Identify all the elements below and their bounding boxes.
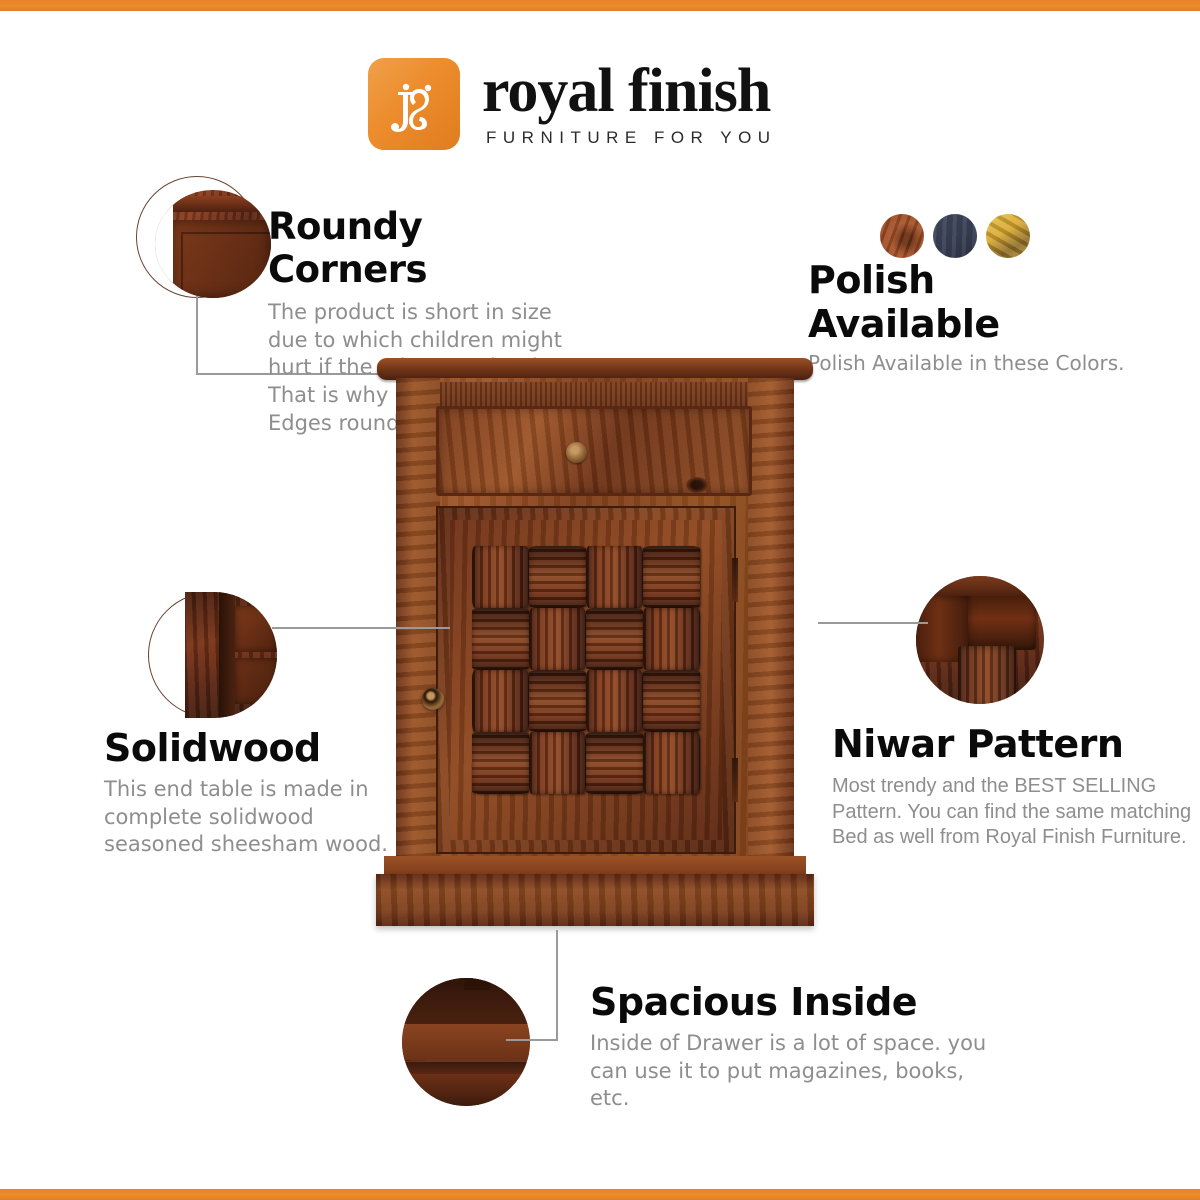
polish-callout: Polish Available Polish Available in the…: [808, 258, 1138, 376]
bottom-accent-bar: [0, 1189, 1200, 1200]
niwar-pattern-connector: [818, 622, 928, 624]
rf-monogram-icon: [368, 58, 460, 150]
spacious-inside-title: Spacious Inside: [590, 980, 990, 1024]
polish-swatch-group: [880, 214, 1030, 258]
spacious-inside-photo: [402, 978, 530, 1106]
niwar-pattern-photo: [916, 576, 1044, 704]
brand-logo: royal finish FURNITURE FOR YOU: [368, 58, 777, 150]
spacious-inside-body: Inside of Drawer is a lot of space. you …: [590, 1030, 990, 1113]
wood-knot: [686, 477, 708, 493]
drawer-rail: [440, 382, 748, 408]
niwar-weave-pattern: [472, 546, 700, 794]
brand-text-block: royal finish FURNITURE FOR YOU: [482, 60, 777, 148]
polish-subtitle: Polish Available in these Colors.: [808, 350, 1138, 376]
polish-swatch-golden-teak[interactable]: [986, 214, 1030, 258]
door-knob[interactable]: [422, 688, 444, 710]
door-hinge-upper: [732, 558, 738, 602]
cabinet-base: [376, 874, 814, 926]
drawer-knob[interactable]: [566, 442, 587, 463]
solidwood-title: Solidwood: [104, 726, 404, 770]
cabinet-plinth: [384, 856, 806, 876]
product-image: [370, 358, 820, 928]
door-inner-panel: [450, 520, 722, 840]
spacious-inside-connector-vertical: [556, 930, 558, 1040]
roundy-corners-connector-vertical: [196, 296, 198, 374]
solidwood-photo: [185, 592, 277, 718]
roundy-corners-title: Roundy Corners: [268, 205, 578, 291]
niwar-pattern-body: Most trendy and the BEST SELLING Pattern…: [832, 774, 1192, 851]
drawer[interactable]: [436, 406, 752, 496]
solidwood-callout: Solidwood This end table is made in comp…: [104, 726, 404, 859]
niwar-pattern-callout: Niwar Pattern Most trendy and the BEST S…: [832, 722, 1192, 851]
solidwood-connector: [272, 627, 450, 629]
brand-tagline: FURNITURE FOR YOU: [482, 128, 777, 148]
solidwood-body: This end table is made in complete solid…: [104, 776, 404, 859]
door-hinge-lower: [732, 758, 738, 802]
spacious-inside-connector-horizontal: [506, 1039, 558, 1041]
polish-swatch-dark-slate-blue[interactable]: [933, 214, 977, 258]
polish-swatch-honey-walnut[interactable]: [880, 214, 924, 258]
brand-name: royal finish: [482, 62, 777, 121]
cabinet-top: [377, 358, 813, 380]
niwar-pattern-title: Niwar Pattern: [832, 722, 1192, 766]
top-accent-bar: [0, 0, 1200, 11]
cabinet-door[interactable]: [436, 506, 736, 854]
spacious-inside-callout: Spacious Inside Inside of Drawer is a lo…: [590, 980, 990, 1113]
cabinet-side-right: [748, 378, 794, 868]
polish-title: Polish Available: [808, 258, 1138, 346]
roundy-corners-photo: [155, 190, 271, 298]
